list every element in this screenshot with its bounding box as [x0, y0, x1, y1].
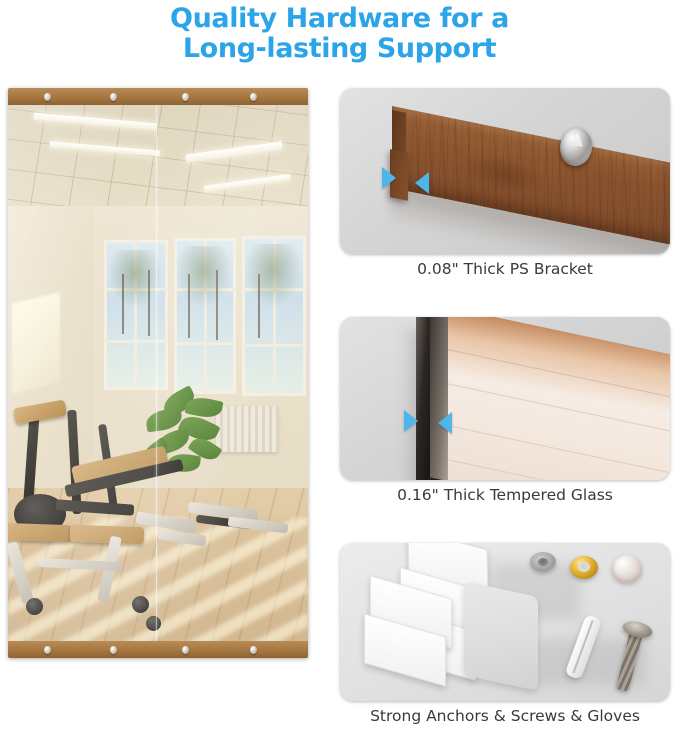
screw-cap-icon [612, 555, 642, 583]
bracket-illustration [340, 88, 670, 254]
thickness-arrow-left-icon [415, 172, 429, 194]
mirror-bottom-frame [8, 641, 308, 658]
tempered-glass-caption: 0.16" Thick Tempered Glass [340, 480, 670, 511]
title-line-1: Quality Hardware for a [0, 4, 679, 34]
reflected-window [174, 238, 236, 394]
page-title: Quality Hardware for a Long-lasting Supp… [0, 4, 679, 64]
thickness-arrow-right-icon [382, 167, 396, 189]
title-line-2: Long-lasting Support [0, 34, 679, 64]
mirror-reflection [8, 88, 308, 658]
mounting-screw-icon [44, 93, 51, 101]
ps-bracket-panel [340, 88, 670, 254]
mounting-screw-icon [250, 646, 257, 654]
mirror-top-frame [8, 88, 308, 105]
mounting-plate [464, 581, 538, 691]
hardware-illustration [340, 543, 670, 701]
thickness-arrow-right-icon [404, 410, 418, 432]
feature-panels-column: 0.08" Thick PS Bracket 0.16" Thick Tempe… [340, 88, 670, 666]
sunlight-patch [12, 292, 60, 394]
hardware-caption: Strong Anchors & Screws & Gloves [340, 701, 670, 732]
mounting-screw-icon [182, 646, 189, 654]
mounting-screw-icon [110, 646, 117, 654]
glass-dark-edge [416, 317, 430, 480]
anchors-screws-gloves-panel [340, 543, 670, 701]
mounting-screw-icon [250, 93, 257, 101]
mirror-panel-seam [156, 105, 157, 641]
reflected-window [242, 236, 306, 396]
gym-mirror-photo [8, 88, 308, 658]
mounting-screw-icon [110, 93, 117, 101]
thickness-arrow-left-icon [438, 412, 452, 434]
reflected-gym-machine [188, 498, 308, 558]
washer-icon [530, 552, 556, 572]
glass-illustration [340, 317, 670, 480]
mirror-glass-surface [448, 317, 670, 480]
mounting-screw-icon [182, 93, 189, 101]
brass-ring-icon [570, 556, 598, 579]
tempered-glass-panel [340, 317, 670, 480]
mounting-screw-icon [44, 646, 51, 654]
ps-bracket-caption: 0.08" Thick PS Bracket [340, 254, 670, 285]
glass-edge-highlight [430, 317, 450, 480]
reflected-window [104, 240, 168, 390]
